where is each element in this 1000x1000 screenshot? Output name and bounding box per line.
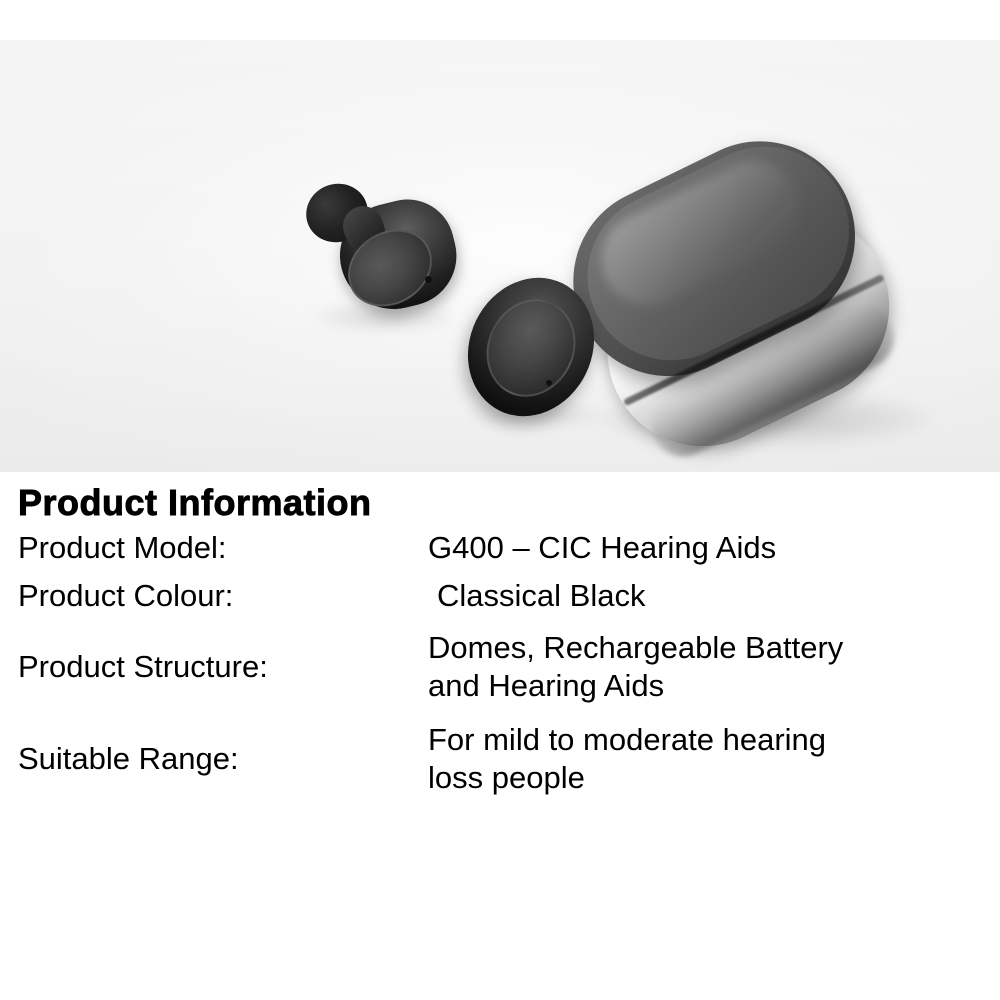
spec-value-suitable-range-line1: For mild to moderate hearing [428,721,978,759]
product-info-page: Product Information Product Model: G400 … [0,0,1000,1000]
charging-case [580,135,930,445]
product-spec-table: Product Model: G400 – CIC Hearing Aids P… [0,525,1000,805]
earbud-right-microphone-port [546,380,552,386]
spec-value-suitable-range-line2: loss people [428,759,978,797]
spec-label-product-colour: Product Colour: [0,579,428,614]
product-photo [0,40,1000,472]
spec-value-suitable-range: For mild to moderate hearing loss people [428,721,1000,797]
product-information-heading: Product Information [18,482,372,524]
earbud-right [462,272,607,422]
spec-value-product-model: G400 – CIC Hearing Aids [428,529,1000,567]
spec-label-suitable-range: Suitable Range: [0,742,428,777]
spec-row-product-model: Product Model: G400 – CIC Hearing Aids [0,525,1000,571]
earbud-left-microphone-port [425,276,432,283]
spec-label-product-structure: Product Structure: [0,650,428,685]
spec-row-suitable-range: Suitable Range: For mild to moderate hea… [0,713,1000,805]
spec-value-product-structure-line2: and Hearing Aids [428,667,978,705]
spec-value-product-colour: Classical Black [428,577,1000,615]
spec-label-product-model: Product Model: [0,531,428,566]
earbud-left [300,180,470,325]
spec-value-product-structure: Domes, Rechargeable Battery and Hearing … [428,629,1000,705]
spec-value-product-structure-line1: Domes, Rechargeable Battery [428,629,978,667]
spec-row-product-colour: Product Colour: Classical Black [0,571,1000,621]
spec-row-product-structure: Product Structure: Domes, Rechargeable B… [0,621,1000,713]
